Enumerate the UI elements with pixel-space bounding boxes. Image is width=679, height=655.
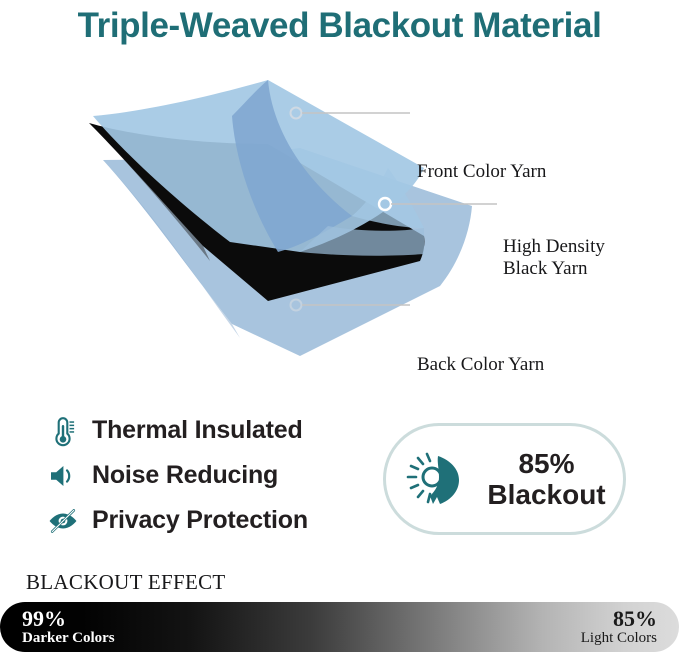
blackout-effect-right-percent: 85% (581, 608, 657, 631)
feature-label-thermal-insulated: Thermal Insulated (92, 416, 303, 445)
label-back-color-yarn: Back Color Yarn (417, 354, 544, 376)
label-high-density-black-yarn-line1: High Density (503, 236, 605, 258)
blackout-effect-title: BLACKOUT EFFECT (26, 570, 226, 595)
blackout-effect-right-stat: 85% Light Colors (581, 608, 657, 646)
fabric-layers-diagram: Front Color Yarn High Density Black Yarn… (0, 56, 679, 356)
feature-label-noise-reducing: Noise Reducing (92, 461, 278, 490)
blackout-badge-text: 85% Blackout (476, 448, 623, 511)
blackout-effect-left-percent: 99% (22, 608, 115, 631)
blackout-badge-percent: 85% (476, 448, 617, 479)
feature-label-privacy-protection: Privacy Protection (92, 506, 308, 535)
label-high-density-black-yarn-line2: Black Yarn (503, 258, 605, 280)
speaker-icon (46, 459, 80, 493)
blackout-effect-left-caption: Darker Colors (22, 631, 115, 647)
feature-item-thermal-insulated: Thermal Insulated (46, 408, 366, 453)
label-front-color-yarn: Front Color Yarn (417, 161, 546, 183)
feature-item-noise-reducing: Noise Reducing (46, 453, 366, 498)
thermometer-icon (46, 414, 80, 448)
eye-slash-icon (46, 504, 80, 538)
page-title: Triple-Weaved Blackout Material (0, 0, 679, 52)
sun-behind-curtain-icon (402, 442, 476, 516)
feature-list: Thermal Insulated Noise Reducing Privacy… (46, 408, 366, 543)
blackout-badge-word: Blackout (476, 479, 617, 510)
blackout-effect-left-stat: 99% Darker Colors (22, 608, 115, 646)
blackout-effect-gradient-bar: 99% Darker Colors 85% Light Colors (0, 602, 679, 652)
feature-item-privacy-protection: Privacy Protection (46, 498, 366, 543)
label-high-density-black-yarn: High Density Black Yarn (503, 236, 605, 280)
blackout-effect-right-caption: Light Colors (581, 631, 657, 647)
blackout-badge: 85% Blackout (383, 423, 626, 535)
